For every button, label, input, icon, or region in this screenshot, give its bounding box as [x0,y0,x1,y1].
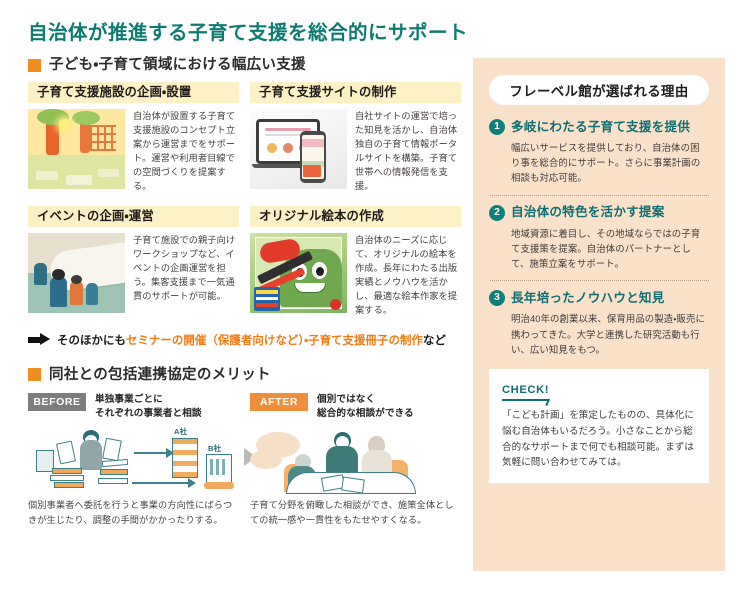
card-title: 子育て支援施設の企画・設置 [37,86,191,98]
card-title: 子育て支援サイトの制作 [259,86,396,98]
company-a-label: A社 [174,426,187,437]
card-title-band: イベントの企画・運営 [28,206,239,227]
reason-2-header: 2 自治体の特色を活かす提案 [489,205,709,221]
picture-book-cover-photo [250,233,347,313]
reason-number-badge: 3 [489,290,505,306]
reason-body: 地域資源に着目し、その地域ならではの子育て支援策を提案。自治体のパートナーとして… [489,226,709,272]
company-b-label: B社 [208,443,221,454]
after-column: AFTER 個別ではなく 総合的な相談ができる 子育て分野を俯瞰した相談ができ、… [250,393,461,527]
after-illustration [250,426,461,492]
orange-square-marker-icon [28,59,41,72]
after-header: AFTER 個別ではなく 総合的な相談ができる [250,393,461,420]
section-heading-label: 子ども・子育て領域における幅広い支援 [49,58,306,73]
card-description: 自社サイトの運営で培った知見を活かし、自治体独自の子育て情報ポータルサイトを構築… [355,109,461,194]
additional-services-note: そのほかにもセミナーの開催（保護者向けなど）・子育て支援冊子の制作など [28,332,455,348]
before-badge: BEFORE [28,393,86,411]
card-title-band: オリジナル絵本の作成 [250,206,461,227]
page-title: 自治体が推進する子育て支援を総合的にサポート [28,22,455,45]
reason-3-header: 3 長年培ったノウハウと知見 [489,290,709,306]
dotted-divider [490,280,709,281]
reason-1-header: 1 多岐にわたる子育て支援を提供 [489,119,709,135]
reason-number-badge: 2 [489,205,505,221]
sidebar-title-pill: フレーベル館が選ばれる理由 [489,75,709,105]
right-arrow-icon [28,333,50,346]
note-highlight: セミナーの開催（保護者向けなど）・子育て支援冊子の制作 [126,335,423,347]
before-caption: 個別事業者へ委託を行うと事業の方向性にばらつきが生じたり、調整の手間がかかったり… [28,498,239,527]
card-body: 自社サイトの運営で培った知見を活かし、自治体独自の子育て情報ポータルサイトを構築… [250,109,461,194]
card-original-picture-book: オリジナル絵本の作成 自治体のニーズに応じて、オリジナルの絵本を作成。長年にわた… [250,206,461,318]
before-lead-line2: それぞれの事業者と相談 [95,408,202,419]
card-body: 自治体のニーズに応じて、オリジナルの絵本を作成。長年にわたる出版実績とノウハウを… [250,233,461,318]
left-content-column: 自治体が推進する子育て支援を総合的にサポート 子ども・子育て領域における幅広い支… [0,0,473,603]
reason-title: 多岐にわたる子育て支援を提供 [511,121,690,134]
after-badge: AFTER [250,393,308,411]
reason-title: 長年培ったノウハウと知見 [511,292,665,305]
card-body: 自治体が設置する子育て支援施設のコンセプト立案から運営までをサポート。運営や利用… [28,109,239,194]
childcare-facility-photo [28,109,125,189]
additional-services-text: そのほかにもセミナーの開催（保護者向けなど）・子育て支援冊子の制作など [57,332,446,348]
after-lead-line2: 総合的な相談ができる [317,408,414,419]
reasons-sidebar: フレーベル館が選ばれる理由 1 多岐にわたる子育て支援を提供 幅広いサービスを提… [473,58,725,571]
note-prefix: そのほかにも [57,335,126,347]
card-body: 子育て施設での親子向けワークショップなど、イベントの企画運営を担う。集客支援まで… [28,233,239,313]
before-lead-line1: 単独事業ごとに [95,394,163,405]
orange-square-marker-icon [28,368,41,381]
before-after-comparison: BEFORE 単独事業ごとに それぞれの事業者と相談 [28,393,455,527]
reason-body: 明治40年の創業以来、保育用品の製造・販売に携わってきた。大学と連携した研究活動… [489,311,709,357]
section-heading-support: 子ども・子育て領域における幅広い支援 [28,58,455,73]
website-devices-photo [250,109,347,189]
section-heading-label: 同社との包括連携協定のメリット [49,368,271,383]
card-childcare-facility: 子育て支援施設の企画・設置 自治体が設置する子育て支援施設のコンセプト立案から運… [28,82,239,194]
after-caption: 子育て分野を俯瞰した相談ができ、施策全体としての統一感や一貫性をもたせやすくなる… [250,498,461,527]
after-lead: 個別ではなく 総合的な相談ができる [317,393,414,420]
reason-item-2: 2 自治体の特色を活かす提案 地域資源に着目し、その地域ならではの子育て支援策を… [489,205,709,272]
event-workshop-photo [28,233,125,313]
before-header: BEFORE 単独事業ごとに それぞれの事業者と相談 [28,393,239,420]
before-lead: 単独事業ごとに それぞれの事業者と相談 [95,393,202,420]
check-label: CHECK! [502,384,549,401]
after-lead-line1: 個別ではなく [317,394,375,405]
reason-title: 自治体の特色を活かす提案 [511,206,665,219]
check-callout-box: CHECK! 「こども計画」を策定したものの、具体化に悩む自治体もいるだろう。小… [489,369,709,483]
reason-item-1: 1 多岐にわたる子育て支援を提供 幅広いサービスを提供しており、自治体の困り事を… [489,119,709,186]
check-body: 「こども計画」を策定したものの、具体化に悩む自治体もいるだろう。小さなことから総… [502,408,696,471]
card-description: 子育て施設での親子向けワークショップなど、イベントの企画運営を担う。集客支援まで… [133,233,239,313]
card-title: オリジナル絵本の作成 [259,210,384,222]
dotted-divider [490,195,709,196]
reason-number-badge: 1 [489,119,505,135]
before-column: BEFORE 単独事業ごとに それぞれの事業者と相談 [28,393,239,527]
brochure-page: 自治体が推進する子育て支援を総合的にサポート 子ども・子育て領域における幅広い支… [0,0,737,603]
card-title: イベントの企画・運営 [37,210,154,222]
section-heading-merit: 同社との包括連携協定のメリット [28,368,455,383]
card-description: 自治体のニーズに応じて、オリジナルの絵本を作成。長年にわたる出版実績とノウハウを… [355,233,461,318]
sidebar-title: フレーベル館が選ばれる理由 [509,80,688,100]
card-title-band: 子育て支援施設の企画・設置 [28,82,239,103]
card-support-website: 子育て支援サイトの制作 自社サイトの運営で培った知見を活かし、自治体独自の子育て… [250,82,461,194]
card-event-planning: イベントの企画・運営 子育て施設での親子向けワークショップなど、イベントの企画運… [28,206,239,318]
support-cards-grid: 子育て支援施設の企画・設置 自治体が設置する子育て支援施設のコンセプト立案から運… [28,82,455,318]
reason-item-3: 3 長年培ったノウハウと知見 明治40年の創業以来、保育用品の製造・販売に携わっ… [489,290,709,357]
card-title-band: 子育て支援サイトの制作 [250,82,461,103]
before-illustration: A社 B社 [28,426,239,492]
reason-body: 幅広いサービスを提供しており、自治体の困り事を総合的にサポート。さらに事業計画の… [489,140,709,186]
note-suffix: など [423,335,446,347]
card-description: 自治体が設置する子育て支援施設のコンセプト立案から運営までをサポート。運営や利用… [133,109,239,194]
